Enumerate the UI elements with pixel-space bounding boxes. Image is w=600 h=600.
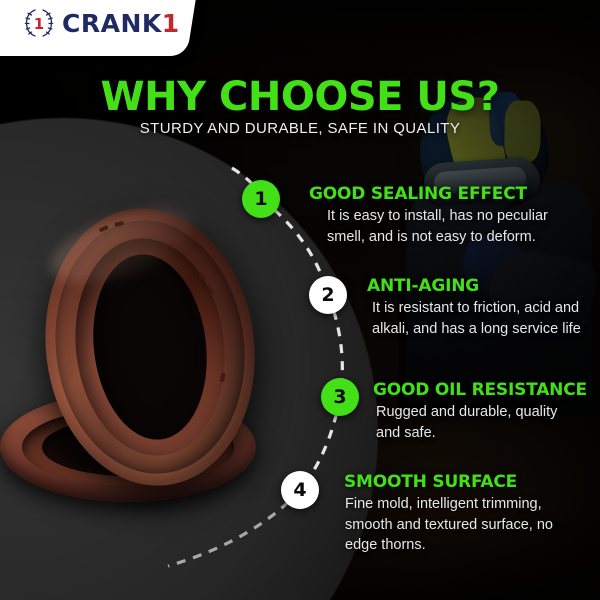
- brand-name: CRANK: [62, 9, 162, 38]
- brand-wordmark: CRANK1: [62, 11, 180, 36]
- brand-logo-banner: 1 CRANK1: [0, 0, 197, 56]
- step-body-2: It is resistant to friction, acid and al…: [372, 298, 582, 339]
- step-body-3: Rugged and durable, quality and safe.: [376, 402, 581, 443]
- step-body-4: Fine mold, intelligent trimming, smooth …: [345, 494, 582, 556]
- svg-text:1: 1: [34, 15, 44, 33]
- page-title: WHY CHOOSE US?: [0, 74, 600, 120]
- step-badge-1: 1: [242, 180, 280, 218]
- step-badge-2: 2: [309, 276, 347, 314]
- oil-seal-upright: [30, 196, 270, 497]
- step-badge-4: 4: [281, 471, 319, 509]
- step-title-1: GOOD SEALING EFFECT: [309, 184, 527, 204]
- step-body-1: It is easy to install, has no peculiar s…: [327, 206, 579, 247]
- step-title-2: ANTI-AGING: [367, 276, 479, 296]
- step-badge-3: 3: [321, 378, 359, 416]
- brand-name-accent: 1: [162, 9, 180, 38]
- page-subtitle: STURDY AND DURABLE, SAFE IN QUALITY: [0, 120, 600, 137]
- step-title-4: SMOOTH SURFACE: [344, 472, 517, 492]
- product-image-oil-seals: [4, 196, 266, 546]
- step-title-3: GOOD OIL RESISTANCE: [373, 380, 587, 400]
- promo-banner: 1 CRANK1 WHY CHOOSE US? STURDY AND DURAB…: [0, 0, 600, 600]
- laurel-wreath-icon: 1: [22, 6, 56, 40]
